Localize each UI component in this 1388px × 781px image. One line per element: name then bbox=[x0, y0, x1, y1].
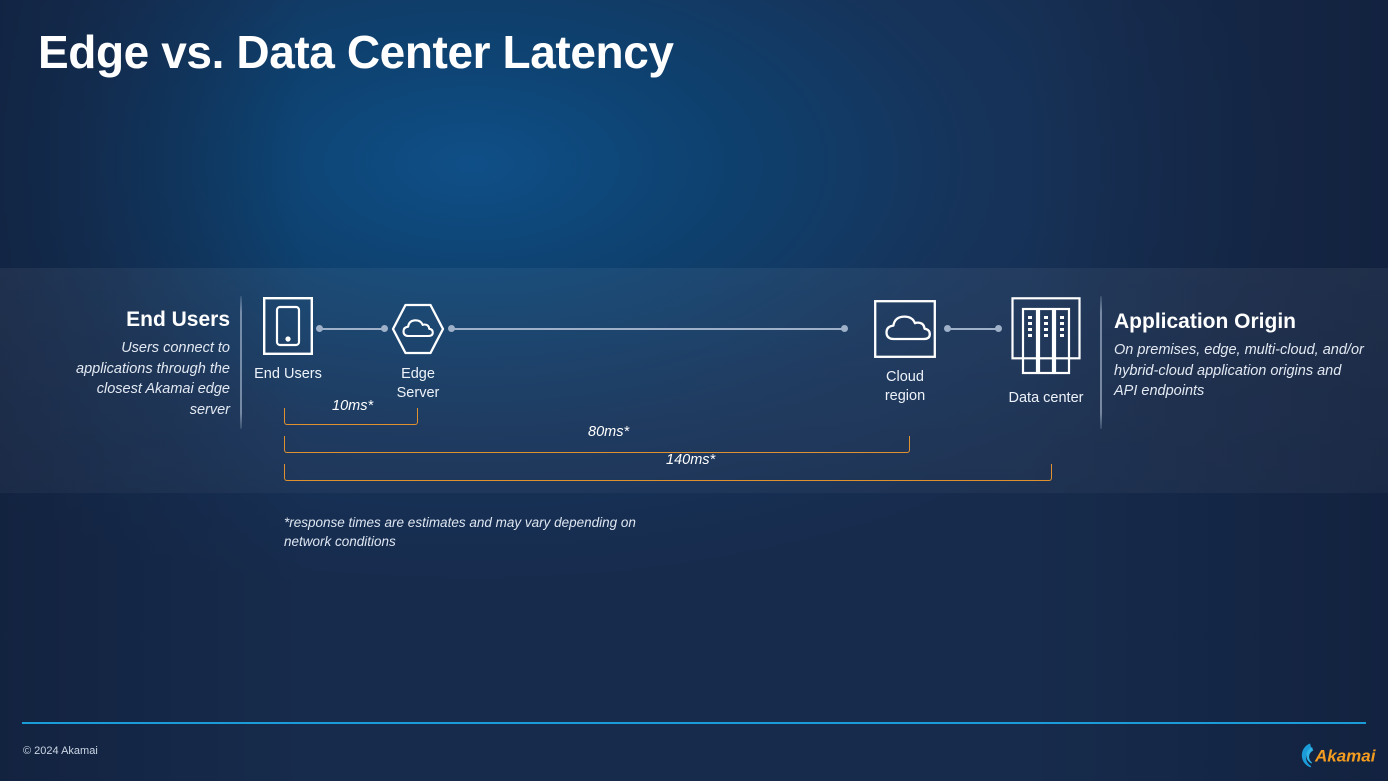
page-title: Edge vs. Data Center Latency bbox=[38, 25, 674, 79]
connector-line bbox=[451, 328, 845, 330]
latency-label-edge: 10ms* bbox=[332, 398, 373, 414]
node-data-center-label: Data center bbox=[985, 389, 1107, 408]
node-end-users-label: End Users bbox=[224, 365, 352, 384]
node-cloud-region-label: Cloud region bbox=[848, 368, 962, 406]
right-block-heading: Application Origin bbox=[1114, 310, 1364, 334]
mobile-phone-icon bbox=[224, 297, 352, 360]
latency-label-cloud: 80ms* bbox=[588, 424, 629, 440]
node-edge-server: Edge Server bbox=[362, 303, 474, 403]
left-divider bbox=[240, 296, 242, 429]
node-cloud-region: Cloud region bbox=[848, 300, 962, 406]
footer-divider bbox=[22, 722, 1366, 724]
copyright-text: © 2024 Akamai bbox=[23, 745, 98, 757]
connector-dot bbox=[841, 325, 848, 332]
right-description-block: Application Origin On premises, edge, mu… bbox=[1114, 310, 1364, 402]
left-description-block: End Users Users connect to applications … bbox=[62, 308, 230, 420]
latency-label-data-center: 140ms* bbox=[666, 452, 715, 468]
right-block-body: On premises, edge, multi-cloud, and/or h… bbox=[1114, 340, 1364, 402]
node-data-center: Data center bbox=[985, 297, 1107, 408]
node-edge-server-label: Edge Server bbox=[362, 365, 474, 403]
right-divider bbox=[1100, 296, 1102, 429]
node-end-users: End Users bbox=[224, 297, 352, 384]
left-block-body: Users connect to applications through th… bbox=[62, 338, 230, 420]
connector-edge-to-cloud bbox=[448, 325, 848, 332]
slide-canvas: Edge vs. Data Center Latency End Users U… bbox=[0, 0, 1388, 781]
left-block-heading: End Users bbox=[62, 308, 230, 332]
svg-text:Akamai: Akamai bbox=[1314, 747, 1377, 766]
cloud-in-box-icon bbox=[848, 300, 962, 363]
server-racks-icon bbox=[985, 297, 1107, 384]
akamai-logo: Akamai bbox=[1288, 738, 1380, 777]
footnote-text: *response times are estimates and may va… bbox=[284, 513, 644, 551]
hexagon-cloud-icon bbox=[362, 303, 474, 360]
